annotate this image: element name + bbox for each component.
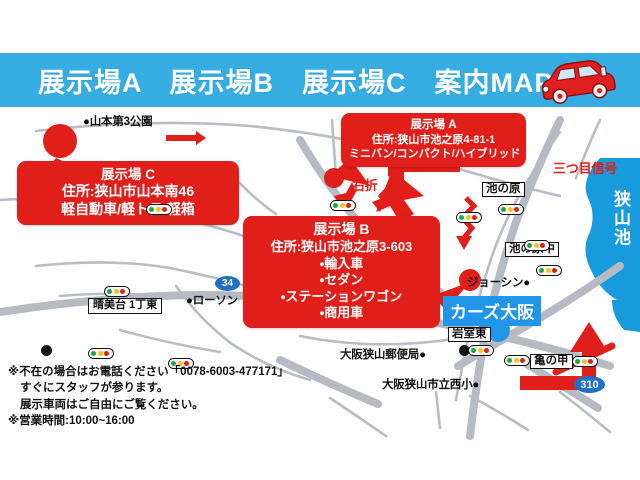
- label-ikenohara: 池の原: [482, 182, 525, 197]
- footer-notes: ※不在の場合はお電話ください「0078-6003-477171」 すぐにスタッフ…: [8, 364, 289, 429]
- note-line-4: ※営業時間:10:00~16:00: [8, 413, 289, 429]
- signal-icon-joshin: [536, 265, 562, 276]
- label-harumidai: 晴美台 1丁東: [88, 298, 162, 314]
- signal-icon-iwamuro-west: [88, 348, 114, 359]
- callout-b-vehicle-2: ・セダン: [251, 272, 432, 289]
- label-harumidai-line1: 晴美台: [93, 299, 126, 311]
- callout-c-vehicles: 軽自動車/軽トラ/軽箱: [25, 201, 231, 219]
- callout-b-address: 住所:狭山市池之原3-603: [251, 239, 432, 256]
- callout-a-address: 住所:狭山市池之原4-81-1: [349, 133, 518, 147]
- arrow-zigzag-head: [456, 236, 472, 250]
- site-c-marker: [43, 124, 77, 158]
- label-sayama-pond: 狭山池: [608, 190, 633, 247]
- water-sliver-upper: [612, 300, 640, 332]
- label-turn-right: 右折: [352, 175, 378, 194]
- label-kame-no-ko: 亀の甲: [530, 354, 573, 369]
- note-line-1: ※不在の場合はお電話ください「0078-6003-477171」: [8, 364, 289, 380]
- label-post-office: 大阪狭山郵便局●: [340, 346, 426, 362]
- note-line-3: 展示車両はご自由にご覧ください。: [8, 397, 289, 413]
- callout-b-vehicle-1: ・輸入車: [251, 256, 432, 273]
- callout-c-address: 住所:狭山市山本南46: [25, 183, 231, 201]
- signal-icon-post-office: [468, 345, 494, 356]
- callout-c-title: 展示場 C: [25, 166, 231, 183]
- signal-icon-ikenohara: [498, 204, 524, 215]
- arrow-left-top: [166, 131, 206, 145]
- signal-icon-harumidai: [104, 286, 130, 297]
- callout-a-title: 展示場 A: [349, 118, 518, 133]
- signal-icon-kame-north: [504, 355, 530, 366]
- callout-b-title: 展示場 B: [251, 221, 432, 239]
- header-banner: 展示場A 展示場B 展示場C 案内MAP: [0, 53, 640, 107]
- label-lawson: ●ローソン: [186, 292, 238, 308]
- route-shield-310: 310: [574, 376, 605, 393]
- signal-icon-turn-right: [330, 200, 356, 211]
- callout-site-b: 展示場 B 住所:狭山市池之原3-603 ・輸入車 ・セダン ・ステーションワゴ…: [243, 216, 440, 328]
- label-joshin: ジョーシン●: [467, 274, 530, 290]
- signal-icon-west-ikenohara: [456, 212, 482, 223]
- route-shield-34: 34: [215, 276, 240, 291]
- label-third-signal: 三つ目信号: [553, 158, 617, 177]
- map-poster: 展示場A 展示場B 展示場C 案内MAP 展示場 A 住所:狭山市池之原4-81…: [0, 0, 640, 480]
- dot-left-edge: [41, 345, 52, 356]
- signal-icon-north-c: [146, 204, 172, 215]
- callout-site-c: 展示場 C 住所:狭山市山本南46 軽自動車/軽トラ/軽箱: [17, 161, 239, 225]
- note-line-2: すぐにスタッフが参ります。: [8, 380, 289, 396]
- red-car-icon: [532, 58, 618, 104]
- callout-a-vehicles: ミニバン/コンパクト/ハイブリッド: [349, 147, 518, 161]
- label-harumidai-line2: 1丁東: [129, 299, 157, 311]
- callout-b-vehicle-3: ・ステーションワゴン: [251, 289, 432, 306]
- signal-icon-ikenohara-naka: [524, 240, 550, 251]
- callout-b-vehicle-4: ・商用車: [251, 305, 432, 322]
- callout-site-a: 展示場 A 住所:狭山市池之原4-81-1 ミニバン/コンパクト/ハイブリッド: [341, 113, 526, 167]
- page-title: 展示場A 展示場B 展示場C 案内MAP: [38, 61, 554, 100]
- label-cars-osaka-store: カーズ大阪: [443, 296, 541, 326]
- label-west-elementary: 大阪狭山市立西小●: [382, 376, 479, 392]
- label-iwamuro-higashi: 岩室東: [448, 327, 491, 342]
- label-yamamoto-park: ●山本第3公園: [83, 113, 152, 129]
- signal-icon-kame-no-ko: [572, 356, 598, 367]
